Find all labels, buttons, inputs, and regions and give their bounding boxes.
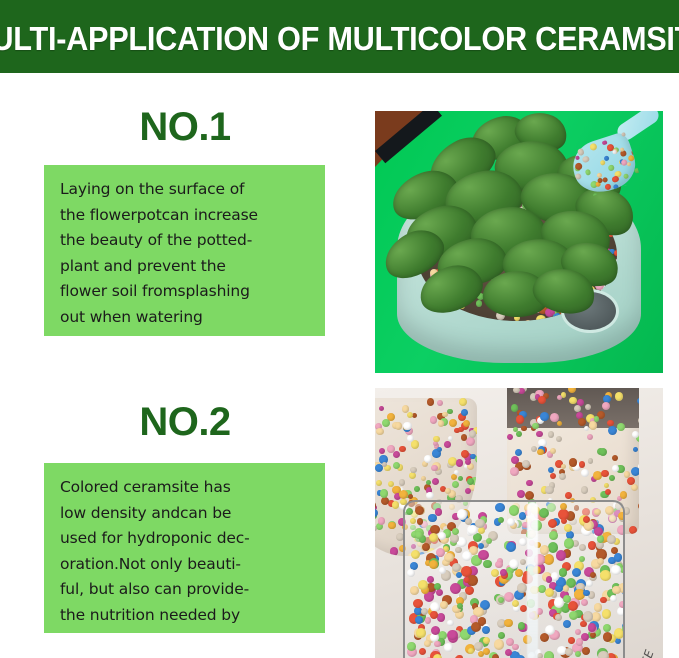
pebble	[473, 321, 479, 322]
pebble	[424, 455, 432, 463]
pebble	[415, 616, 423, 624]
pebble	[437, 400, 443, 406]
pebble	[638, 502, 639, 511]
pebble	[444, 441, 451, 448]
pebble	[559, 473, 566, 480]
pebble	[569, 458, 578, 467]
text-line: low density andcan be	[60, 501, 313, 527]
water-stream	[527, 502, 538, 658]
pebble	[393, 451, 400, 458]
pebble	[432, 478, 439, 485]
pebble	[556, 436, 562, 442]
pebble	[550, 448, 556, 454]
pebble	[495, 561, 502, 568]
pebble	[379, 448, 385, 454]
pebble	[631, 484, 638, 491]
pebble	[638, 417, 639, 425]
pebble	[431, 626, 440, 635]
pebble	[537, 449, 544, 456]
pebble	[588, 541, 596, 549]
pebble	[614, 553, 623, 562]
pebble	[572, 568, 581, 577]
pebble	[600, 570, 611, 581]
text-line: ful, but also can provide-	[60, 577, 313, 603]
pebble	[545, 486, 554, 495]
pebble	[435, 508, 443, 516]
pebble	[495, 503, 505, 513]
pebble	[589, 421, 598, 430]
pebble	[379, 406, 384, 411]
pebble	[434, 641, 441, 648]
pebble	[507, 518, 515, 526]
pebble	[633, 447, 638, 452]
pebble	[549, 531, 558, 540]
pebble	[555, 585, 563, 593]
pebble	[458, 427, 463, 432]
pebble	[594, 416, 599, 421]
page-title: MULTI-APPLICATION OF MULTICOLOR CERAMSIT…	[0, 22, 679, 55]
pebble	[504, 619, 513, 628]
pebble	[539, 508, 549, 518]
pebble	[456, 459, 464, 467]
pebble	[563, 595, 571, 603]
pebble	[515, 449, 523, 457]
left-content-column: NO.1 Laying on the surface of the flower…	[0, 73, 360, 658]
pebble	[597, 535, 605, 543]
pebble	[611, 565, 621, 575]
pebble	[425, 617, 431, 623]
pebble	[597, 558, 605, 566]
pebble	[545, 588, 554, 597]
pebble	[581, 599, 588, 606]
pebble	[410, 586, 419, 595]
pebble	[618, 512, 623, 520]
pebble	[483, 637, 490, 644]
pebble	[568, 637, 575, 644]
pebble	[440, 601, 448, 609]
pebble	[612, 465, 619, 472]
text-line: used for hydroponic dec-	[60, 526, 313, 552]
pebble	[612, 150, 617, 155]
pebble	[407, 642, 416, 651]
pebble	[461, 450, 469, 458]
text-line: the flowerpotcan increase	[60, 203, 313, 229]
pebble	[461, 409, 468, 416]
pebble	[624, 471, 631, 478]
pebble	[457, 509, 468, 520]
pebble	[469, 430, 477, 438]
pebble	[498, 632, 505, 639]
page-header-banner: MULTI-APPLICATION OF MULTICOLOR CERAMSIT…	[0, 0, 679, 73]
pebble	[450, 583, 461, 594]
pebble	[382, 419, 390, 427]
pebble	[621, 132, 626, 137]
pebble	[509, 559, 519, 569]
text-line: Laying on the surface of	[60, 177, 313, 203]
pebble	[602, 609, 612, 619]
pebble	[583, 590, 590, 597]
pebble	[403, 422, 412, 431]
pebble	[421, 608, 428, 615]
pebble	[588, 623, 596, 631]
pebble	[584, 426, 589, 431]
pebble	[579, 556, 586, 563]
pebble	[456, 655, 463, 658]
pebble	[449, 419, 457, 427]
pebble	[399, 490, 408, 499]
pebble	[574, 172, 582, 180]
pebble	[399, 479, 406, 486]
pebble	[422, 543, 430, 551]
pebble	[433, 654, 442, 658]
pebble	[540, 545, 550, 555]
pebble	[452, 528, 459, 535]
pebble	[557, 395, 562, 400]
pebble	[589, 142, 598, 151]
text-line: the nutrition needed by	[60, 603, 313, 629]
pebble	[600, 597, 606, 603]
pebble	[632, 431, 639, 438]
pebble	[574, 405, 581, 412]
pebble	[578, 418, 586, 426]
pebble	[629, 526, 637, 534]
pebble	[544, 554, 555, 565]
pebble	[559, 568, 568, 577]
pebble	[605, 489, 611, 495]
pebble	[476, 300, 482, 306]
pebble	[439, 567, 446, 574]
pebble	[416, 628, 426, 638]
pebble	[461, 566, 471, 576]
pebble	[637, 398, 639, 404]
pebble	[450, 534, 458, 542]
pebble	[536, 315, 546, 321]
pebble	[390, 547, 399, 556]
pebble	[475, 455, 477, 463]
pebble	[442, 412, 447, 417]
pebble	[452, 563, 461, 572]
pebble	[574, 155, 579, 160]
pebble	[563, 585, 570, 592]
pebble	[579, 544, 586, 551]
pebble	[568, 388, 576, 393]
pebble	[452, 481, 459, 488]
pebble	[574, 162, 583, 171]
pebble	[510, 467, 519, 476]
pebble	[582, 155, 590, 163]
pebble	[607, 535, 615, 543]
pebble	[622, 624, 623, 633]
pebble	[427, 576, 434, 583]
pebble	[610, 595, 617, 602]
pebble	[575, 629, 582, 636]
pebble	[603, 632, 613, 642]
pebble	[548, 467, 554, 473]
pebble	[483, 648, 490, 655]
pebble	[463, 420, 470, 427]
pebble	[429, 560, 438, 569]
pebble	[586, 580, 593, 587]
pebble	[375, 526, 377, 531]
pebble	[426, 480, 431, 485]
pebble	[375, 509, 378, 517]
pebble	[424, 640, 431, 647]
pebble	[430, 611, 438, 619]
text-line: oration.Not only beauti-	[60, 552, 313, 578]
pebble	[414, 486, 420, 492]
pebble	[601, 470, 609, 478]
pebble	[475, 519, 484, 528]
pebble	[437, 613, 446, 622]
pebble	[492, 654, 499, 658]
pebble	[380, 489, 389, 498]
pebble	[555, 614, 562, 621]
pebble	[431, 465, 438, 472]
pebble	[392, 501, 400, 509]
pebble	[565, 492, 572, 499]
pebble	[585, 169, 592, 176]
pebble	[483, 560, 491, 568]
pebble	[407, 569, 416, 578]
pebble	[619, 601, 623, 608]
section-heading-no2: NO.2	[44, 402, 326, 442]
pebble	[512, 644, 519, 651]
pebble	[556, 550, 567, 561]
pebble	[413, 599, 423, 609]
pebble	[581, 486, 588, 493]
pebble	[507, 434, 513, 440]
pebble	[617, 423, 625, 431]
pebble	[544, 651, 555, 658]
pebble	[602, 402, 610, 410]
pebble	[548, 519, 557, 528]
pebble	[447, 409, 452, 414]
pebble	[599, 448, 608, 457]
pebble	[399, 446, 405, 452]
pebble	[447, 620, 453, 626]
pebble	[388, 522, 396, 530]
pebble	[475, 484, 477, 491]
pebble	[587, 434, 593, 440]
pebble	[456, 572, 462, 578]
pebble	[631, 467, 639, 476]
pebble	[418, 580, 428, 590]
pebble	[458, 476, 463, 481]
text-line: plant and prevent the	[60, 254, 313, 280]
pebble	[608, 426, 617, 435]
pebble	[563, 620, 571, 628]
pebble	[548, 431, 555, 438]
pebble	[579, 461, 586, 468]
pebble	[445, 488, 451, 494]
pebble	[519, 538, 527, 546]
pebble	[430, 416, 438, 424]
pebble	[604, 483, 609, 488]
pebble	[520, 605, 527, 612]
pebble	[623, 173, 629, 179]
pebble	[581, 469, 589, 477]
pebble	[459, 398, 467, 406]
glass-vase	[403, 500, 625, 658]
pebble	[612, 586, 621, 595]
pebble	[466, 437, 475, 446]
pebble	[436, 548, 445, 557]
pebble	[517, 490, 525, 498]
pebble	[524, 320, 533, 321]
pebble	[406, 508, 413, 515]
pebble	[569, 397, 577, 405]
pebble	[540, 412, 549, 421]
pebble	[521, 426, 526, 431]
text-line: Colored ceramsite has	[60, 475, 313, 501]
pebble	[526, 480, 533, 487]
pebble	[608, 164, 615, 171]
pebble	[426, 492, 433, 499]
pebble	[437, 447, 442, 452]
pebble	[468, 648, 474, 654]
pebble	[509, 505, 519, 515]
pebble	[448, 436, 453, 441]
pebble	[583, 611, 594, 622]
pebble	[517, 583, 527, 593]
pebble	[419, 648, 426, 655]
pebble	[465, 488, 471, 494]
pebble	[516, 431, 522, 437]
pebble	[429, 533, 438, 542]
pebble	[482, 626, 490, 634]
pebble	[532, 423, 539, 430]
pebble	[594, 509, 601, 516]
pebble	[498, 517, 504, 523]
pebble	[557, 421, 562, 426]
pebble	[564, 538, 575, 549]
pebble	[455, 547, 462, 554]
pebble	[381, 553, 387, 556]
pebble	[376, 480, 382, 486]
pebble	[546, 576, 553, 583]
pebble	[512, 600, 519, 607]
pebble	[515, 655, 525, 658]
pebble	[378, 517, 386, 525]
pebble	[471, 622, 481, 632]
text-line: the beauty of the potted-	[60, 228, 313, 254]
pebble	[436, 589, 443, 596]
pebble	[603, 624, 611, 632]
pebble	[410, 518, 416, 524]
pebble	[478, 543, 484, 549]
pebble	[454, 470, 459, 475]
pebble	[609, 475, 615, 481]
pebble	[427, 398, 435, 406]
pebble	[604, 184, 612, 192]
pebble	[520, 559, 526, 565]
ceramsite-pebbles	[405, 502, 623, 658]
pebble	[395, 422, 403, 430]
pebble	[486, 538, 492, 544]
pebble	[615, 392, 624, 401]
text-line: out when watering	[60, 305, 313, 331]
pebble	[506, 542, 516, 552]
pebble	[602, 140, 607, 145]
section-text-box-no1: Laying on the surface of the flowerpotca…	[44, 165, 325, 336]
pebble	[410, 467, 417, 474]
pebble	[550, 473, 556, 479]
pebble	[478, 550, 489, 561]
hydroponic-glass-vase-photo: GALETTE	[375, 388, 663, 658]
pebble	[576, 638, 584, 646]
pebble	[617, 607, 623, 616]
pebble	[612, 455, 619, 462]
pebble	[438, 420, 445, 427]
pebble	[605, 506, 615, 516]
section-heading-no1: NO.1	[44, 107, 326, 147]
pebble	[444, 643, 453, 652]
pebble	[565, 648, 573, 656]
pebble	[444, 553, 454, 563]
pebble	[617, 525, 623, 535]
pebble	[516, 415, 525, 424]
text-line: flower soil fromsplashing	[60, 279, 313, 305]
pebble	[538, 396, 546, 404]
pebble	[594, 603, 603, 612]
pebble	[494, 639, 505, 650]
pebble	[614, 250, 617, 256]
pebble	[411, 550, 420, 559]
pebble	[569, 611, 578, 620]
pebble	[582, 647, 590, 655]
pebble	[575, 651, 581, 657]
pebble	[417, 518, 424, 525]
section-text-box-no2: Colored ceramsite has low density andcan…	[44, 463, 325, 633]
pebble	[376, 428, 384, 436]
pebble	[536, 431, 543, 438]
pebble	[561, 464, 566, 469]
pebble	[598, 651, 609, 658]
pebble	[588, 458, 594, 464]
pebble	[620, 491, 627, 498]
potted-plant-with-ceramsite-photo	[375, 111, 663, 373]
pebble	[407, 412, 413, 418]
pebble	[433, 436, 440, 443]
pebble	[585, 404, 591, 410]
